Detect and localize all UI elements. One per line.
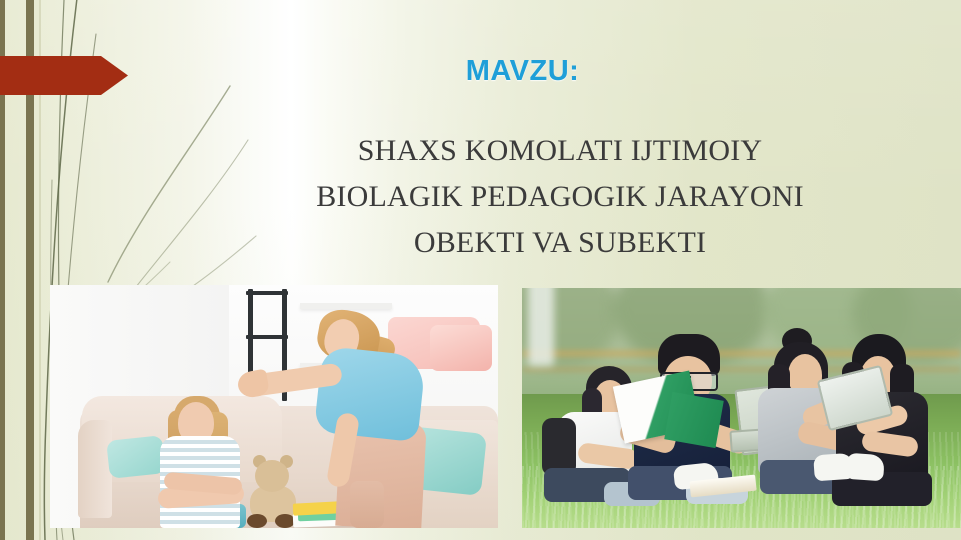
presentation-slide: MAVZU: SHAXS KOMOLATI IJTIMOIY BIOLAGIK … (0, 0, 961, 540)
slide-heading-line-1: SHAXS KOMOLATI IJTIMOIY (215, 128, 905, 174)
slide-heading-line-2: BIOLAGIK PEDAGOGIK JARAYONI (215, 174, 905, 220)
slide-heading: SHAXS KOMOLATI IJTIMOIY BIOLAGIK PEDAGOG… (215, 128, 905, 266)
photo-students-studying-outdoors (522, 288, 961, 528)
slide-heading-line-3: OBEKTI VA SUBEKTI (215, 220, 905, 266)
photo-mother-and-child (50, 285, 498, 528)
slide-title: MAVZU: (0, 55, 961, 88)
